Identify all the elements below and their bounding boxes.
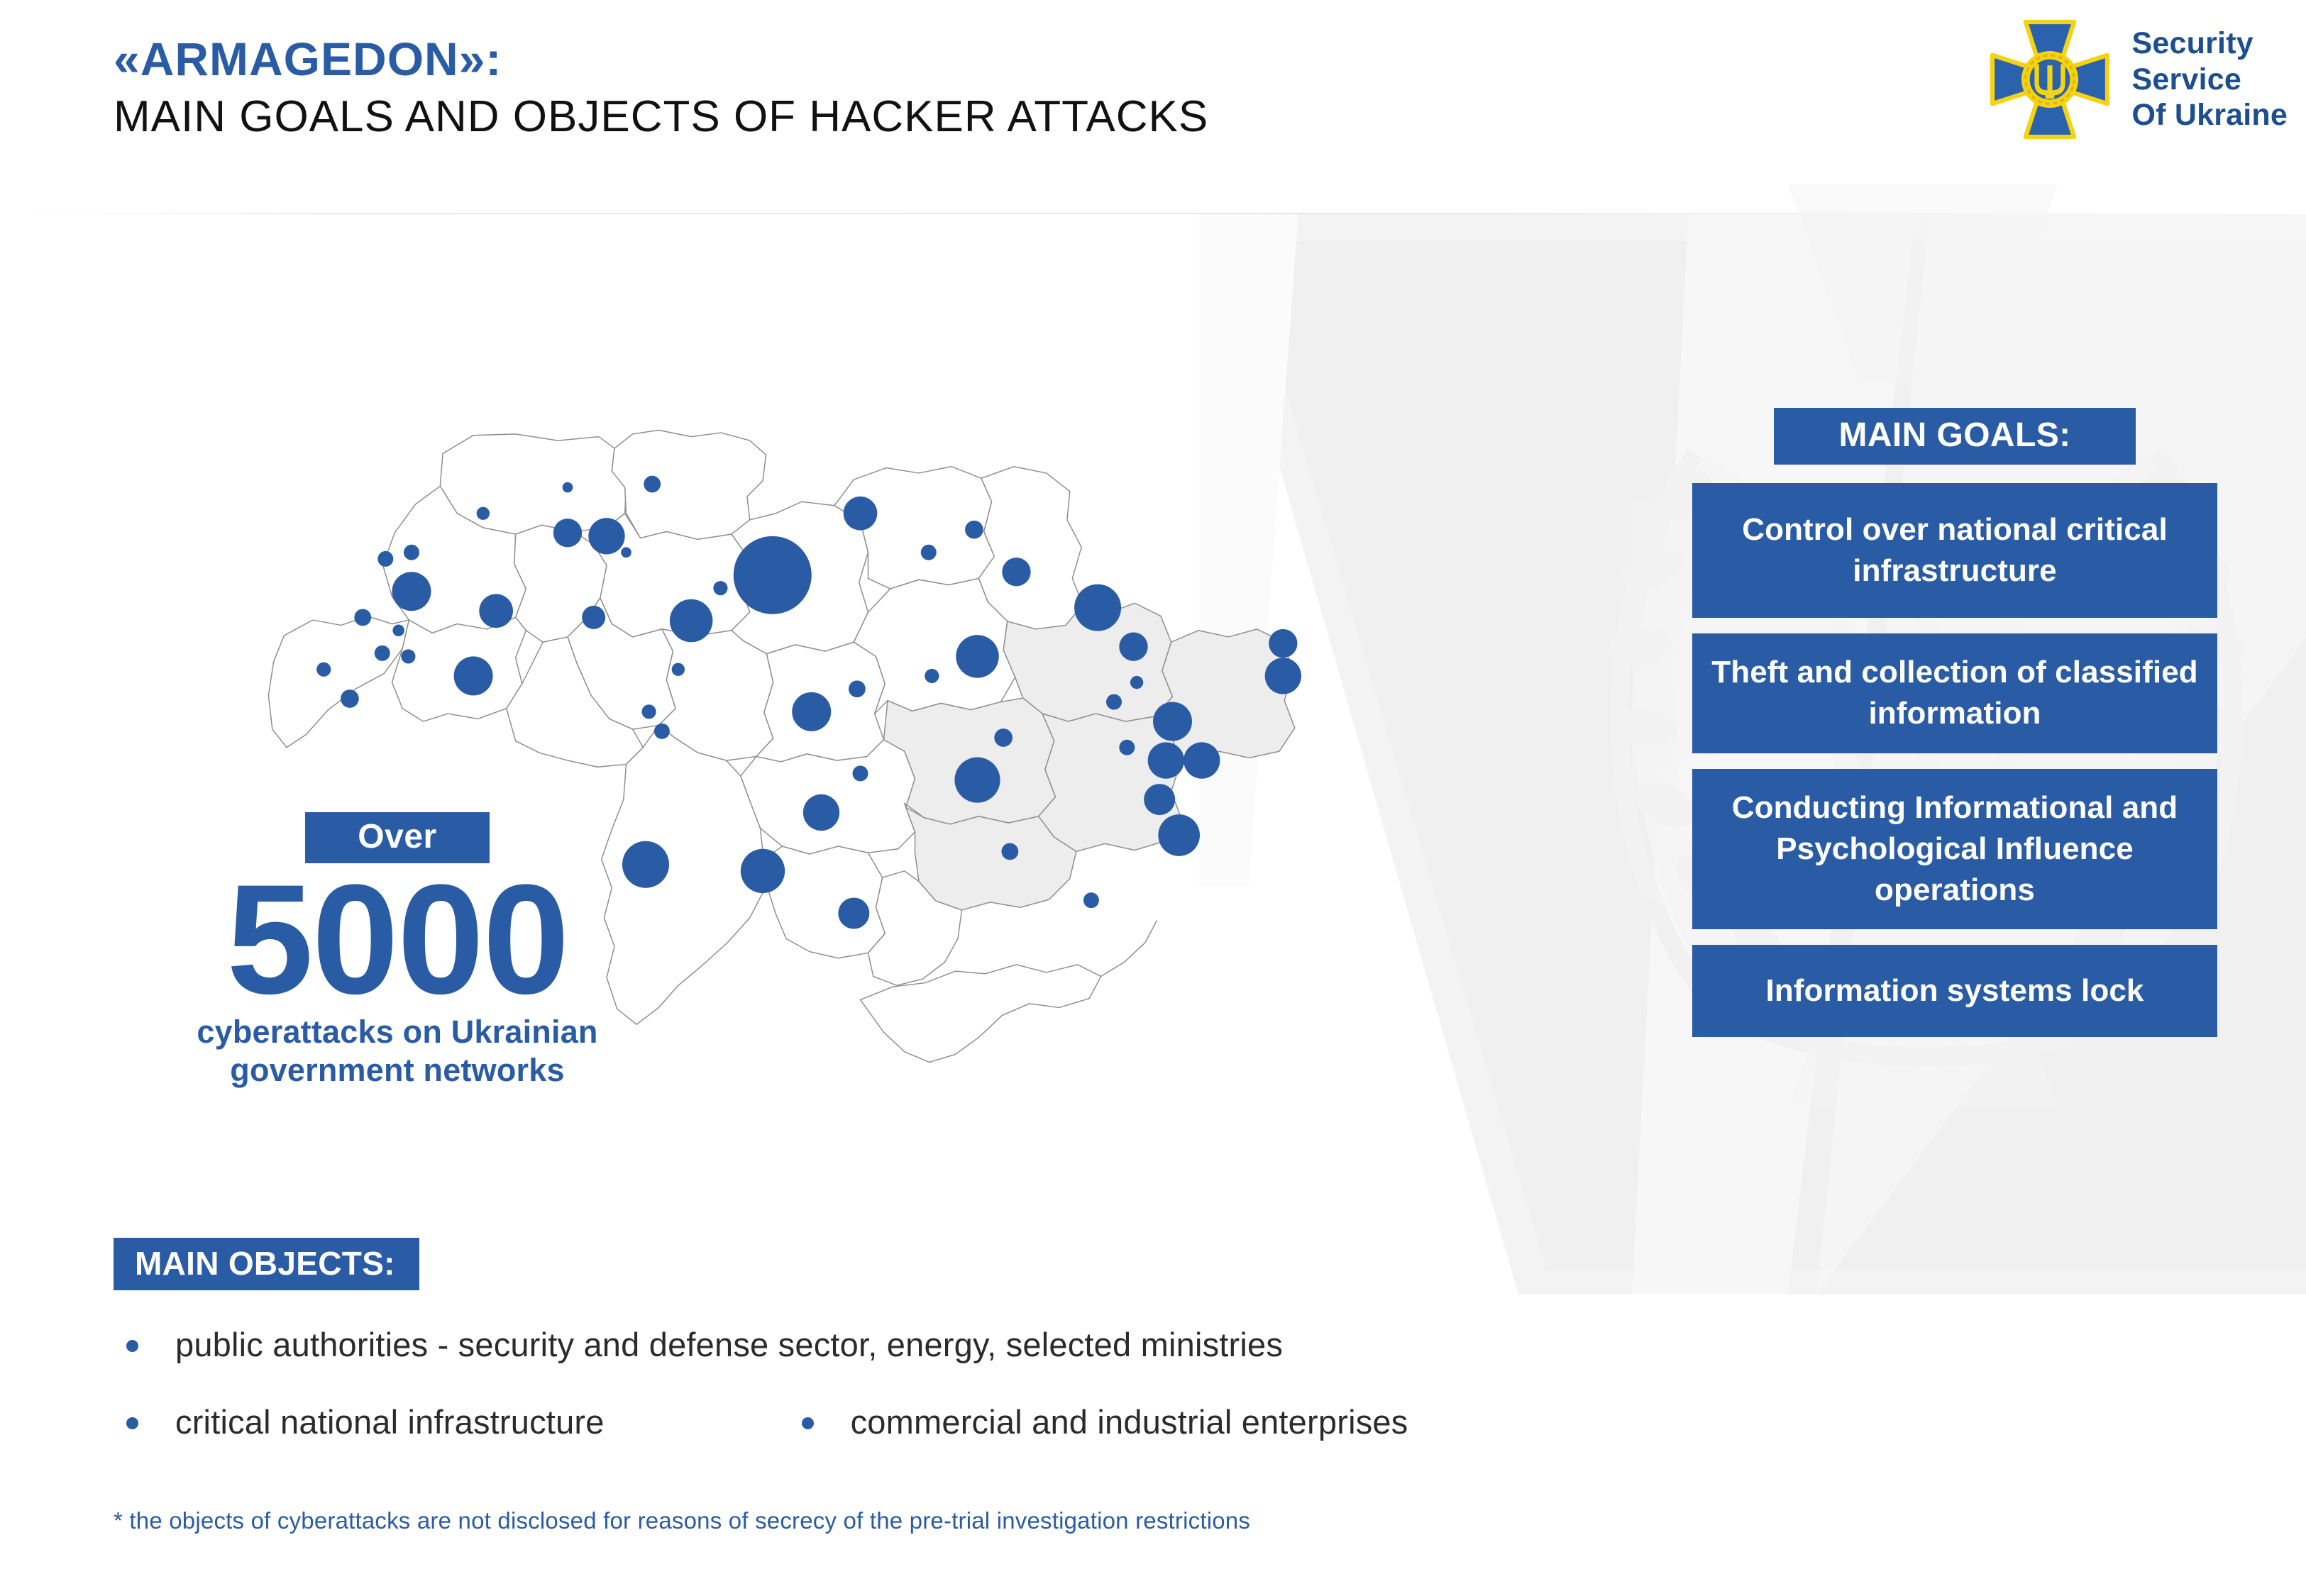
bullet-dot-icon [126,1417,138,1429]
bubble [1158,814,1200,856]
bubble [1184,742,1220,778]
page-header: «ARMAGEDON»: MAIN GOALS AND OBJECTS OF H… [0,0,2306,213]
bubble [1106,694,1122,710]
bubble [563,482,573,493]
bubble [341,689,359,708]
object-item-2-label: critical national infrastructure [175,1402,605,1443]
bubble [921,545,937,560]
bubble [1001,843,1018,860]
goal-item-1: Control over national critical infrastru… [1692,483,2217,618]
bubble [1269,629,1297,658]
object-item-1-label: public authorities - security and defens… [175,1324,1283,1366]
bubble [954,758,1000,803]
stat-caption-line-1: cyberattacks on Ukrainian [197,1014,597,1050]
bubble [956,635,999,678]
bubble [670,599,713,643]
stat-number: 5000 [128,868,667,1011]
page-title: MAIN GOALS AND OBJECTS OF HACKER ATTACKS [114,95,1208,139]
bullet-dot-icon [802,1417,814,1429]
bubble [392,572,431,611]
bubble [1074,584,1121,631]
main-objects-section: MAIN OBJECTS: public authorities - secur… [114,1238,1745,1443]
bubble [1119,633,1147,661]
bubble [588,518,624,554]
goal-item-2: Theft and collection of classified infor… [1692,633,2217,753]
bubble [553,519,582,547]
bubble [1083,892,1099,908]
page-title-kicker: «ARMAGEDON»: [114,35,1208,82]
bubble [803,794,839,831]
bubble [994,728,1013,747]
footnote: * the objects of cyberattacks are not di… [114,1507,1250,1534]
bubble [672,663,685,676]
bubble [404,545,419,560]
main-objects-heading: MAIN OBJECTS: [114,1238,419,1290]
bubble [792,692,831,731]
bubble [654,724,670,739]
objects-row-1: public authorities - security and defens… [114,1324,1745,1366]
bubble [479,594,513,628]
bubble [644,476,661,493]
goal-item-4: Information systems lock [1692,945,2217,1037]
bubble [849,680,866,697]
object-list-item-2: critical national infrastructure [114,1402,605,1443]
stat-caption-line-2: government networks [230,1052,564,1088]
bubble [354,609,371,626]
bubble [853,765,868,781]
bubble [1153,702,1192,741]
bullet-dot-icon [126,1340,138,1352]
bubble [454,656,493,695]
object-list-item-1: public authorities - security and defens… [114,1324,1283,1366]
bubble [965,521,983,539]
object-list-item-3: commercial and industrial enterprises [789,1402,1408,1443]
bubble [713,581,727,595]
stat-caption: cyberattacks on Ukrainian government net… [128,1013,667,1090]
sbu-emblem-cross-trident-icon [1986,16,2114,143]
bubble [401,649,415,663]
bubble [1265,658,1301,694]
logo-line-1: Security [2132,26,2253,60]
bubble [477,507,490,520]
logo-line-2: Service [2132,62,2241,96]
bubble [1119,740,1135,755]
goal-item-1-label: Control over national critical infrastru… [1705,509,2205,592]
main-goals-panel: MAIN GOALS: Control over national critic… [1692,408,2217,1053]
bubble [838,898,869,929]
object-item-3-label: commercial and industrial enterprises [851,1402,1408,1443]
bubble [1148,742,1184,778]
logo-line-3: Of Ukraine [2132,98,2288,132]
goal-item-2-label: Theft and collection of classified infor… [1705,652,2205,734]
bubble [1130,676,1143,689]
goal-item-3: Conducting Informational and Psychologic… [1692,769,2217,929]
bubble [925,669,939,683]
bubble [844,497,878,531]
bubble [316,663,331,677]
sbu-logo-text: Security Service Of Ukraine [2132,26,2288,133]
title-block: «ARMAGEDON»: MAIN GOALS AND OBJECTS OF H… [114,35,1208,139]
bubble [375,645,390,661]
main-goals-heading: MAIN GOALS: [1774,408,2136,465]
goal-item-4-label: Information systems lock [1766,970,2144,1012]
bubble [741,849,785,893]
bubble [1002,558,1030,586]
objects-row-2: critical national infrastructure commerc… [114,1402,1745,1443]
header-divider [0,213,2306,214]
bubble [1144,784,1175,815]
bubble [582,606,605,629]
sbu-logo: Security Service Of Ukraine [1986,16,2288,143]
bubble [621,547,631,558]
goal-item-3-label: Conducting Informational and Psychologic… [1705,787,2205,911]
stat-block: Over 5000 cyberattacks on Ukrainian gove… [128,812,667,1090]
bubble [734,536,812,614]
bubble [642,704,656,719]
bubble [377,551,393,567]
bubble [392,625,404,637]
